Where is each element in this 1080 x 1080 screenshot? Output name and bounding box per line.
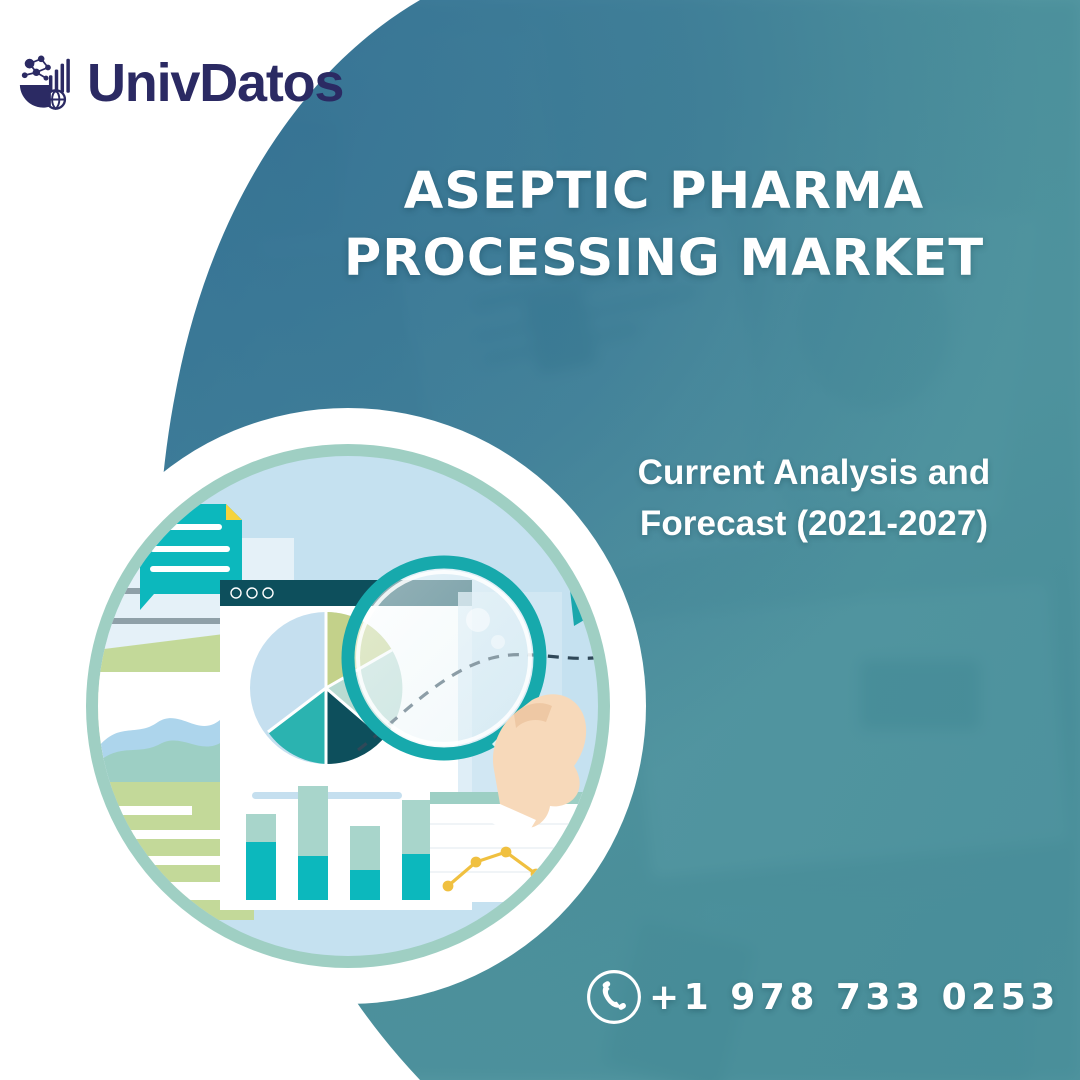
subtitle-line-1: Current Analysis and xyxy=(638,453,991,492)
data-analytics-illustration xyxy=(62,420,634,992)
subtitle-line-2: Forecast (2021-2027) xyxy=(640,504,988,543)
headline-line-1: ASEPTIC PHARMA xyxy=(404,162,924,221)
page-title: ASEPTIC PHARMA PROCESSING MARKET xyxy=(300,158,1028,293)
phone-number: +1 978 733 0253 xyxy=(649,977,1060,1018)
page-subtitle: Current Analysis and Forecast (2021-2027… xyxy=(598,448,1030,550)
univdatos-mark-icon xyxy=(16,52,78,114)
headline-line-2: PROCESSING MARKET xyxy=(300,225,1028,292)
brand-logo[interactable]: UnivDatos xyxy=(16,52,343,114)
poster-canvas: UnivDatos ASEPTIC PHARMA PROCESSING MARK… xyxy=(0,0,1080,1080)
contact-phone[interactable]: +1 978 733 0253 xyxy=(585,968,1060,1026)
brand-name: UnivDatos xyxy=(87,56,343,110)
